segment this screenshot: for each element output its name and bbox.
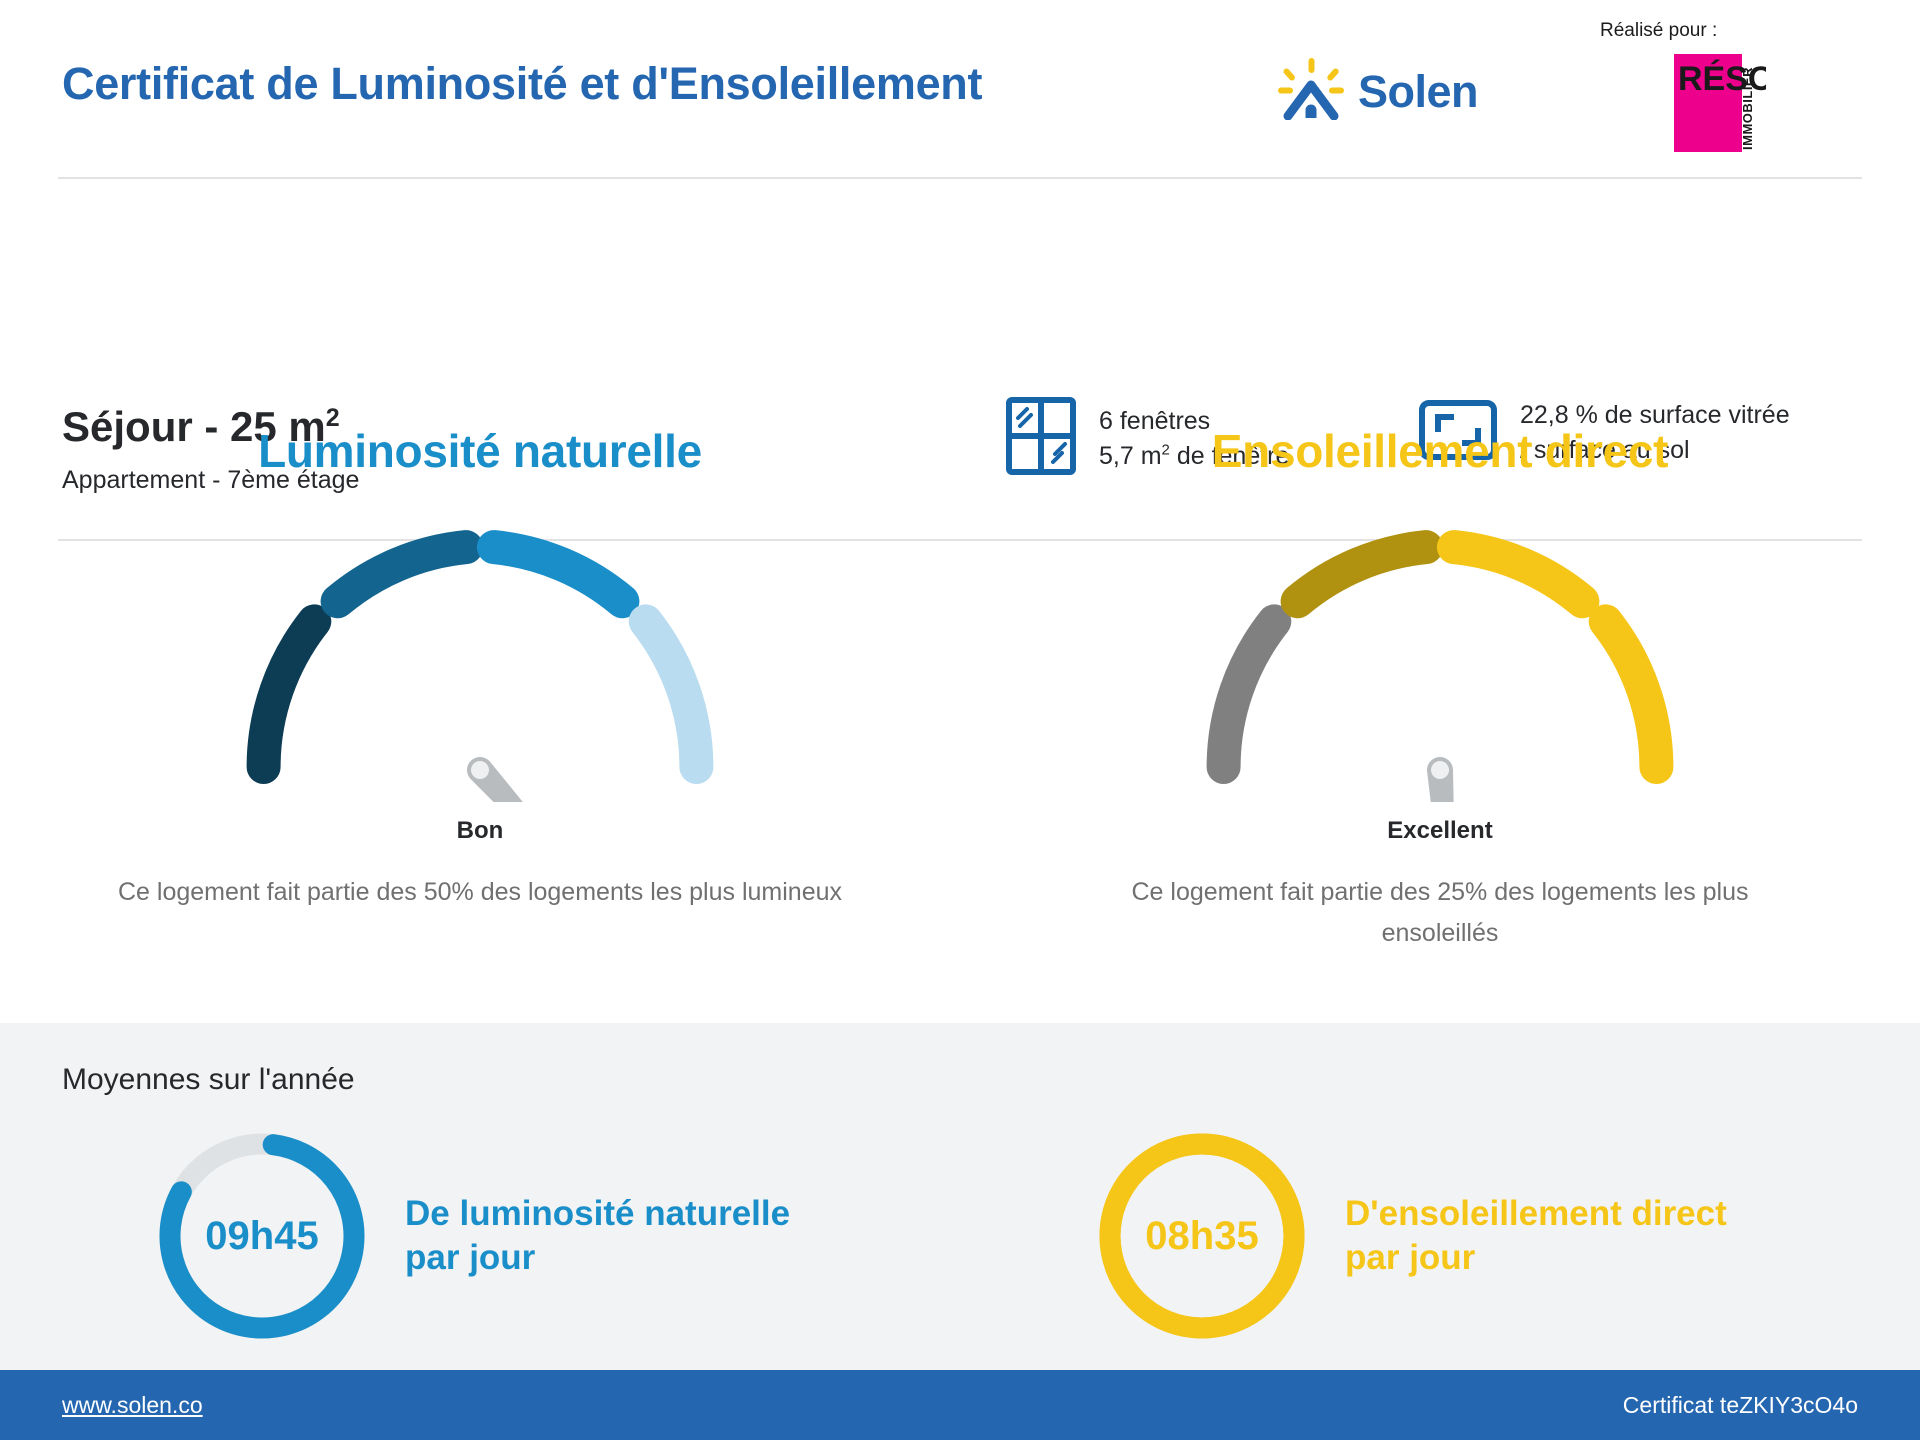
brand-logo: Solen [1278,58,1478,125]
page-footer: www.solen.co Certificat teZKIY3cO4o [0,1370,1920,1440]
brand-name: Solen [1358,66,1478,118]
gauge-lum-needle [462,752,605,802]
gauge-lum-segment-4 [646,621,697,767]
averages-section: Moyennes sur l'année 09h45 De luminosité… [0,1023,1920,1370]
svg-text:IMMOBILIER: IMMOBILIER [1740,67,1755,150]
certificate-page: Certificat de Luminosité et d'Ensoleille… [0,0,1920,1440]
gauge-sun-segment-2 [1298,547,1427,601]
gauge-sun-needle [1426,756,1465,802]
gauge-sun-segment-3 [1454,547,1583,601]
certificate-id: Certificat teZKIY3cO4o [1623,1392,1858,1419]
averages-title: Moyennes sur l'année [62,1063,355,1097]
donut-luminosity-value: 09h45 [155,1129,369,1343]
gauge-sunlight-description: Ce logement fait partie des 25% des loge… [1070,872,1810,955]
panel-luminosity-title: Luminosité naturelle [0,424,960,478]
gauge-lum-segment-2 [338,547,467,601]
property-summary: Séjour - 25 m2 Appartement - 7ème étage [0,178,1920,362]
sun-house-icon [1278,58,1344,125]
gauge-lum-segment-1 [264,621,315,767]
panel-luminosity: Luminosité naturelle Bon Ce loge [0,362,960,1023]
gauge-luminosity-description: Ce logement fait partie des 50% des loge… [110,872,850,913]
gauge-sun-segment-1 [1224,621,1275,767]
donut-sunlight: 08h35 [1095,1129,1309,1343]
average-sunlight-caption: D'ensoleillement direct par jour [1345,1192,1727,1280]
client-logo: RÉSO IMMOBILIER IMMOBILIER [1674,50,1766,155]
donut-luminosity: 09h45 [155,1129,369,1343]
page-title: Certificat de Luminosité et d'Ensoleille… [62,58,982,110]
donut-sunlight-value: 08h35 [1095,1129,1309,1343]
gauge-sunlight [1190,512,1690,807]
average-sunlight: 08h35 D'ensoleillement direct par jour [1095,1129,1727,1343]
average-luminosity-caption: De luminosité naturelle par jour [405,1192,790,1280]
gauge-panels: Luminosité naturelle Bon Ce loge [0,362,1920,1023]
panel-sunlight: Ensoleillement direct Excellent [960,362,1920,1023]
gauge-luminosity-rating: Bon [0,817,960,845]
page-header: Certificat de Luminosité et d'Ensoleille… [0,0,1920,178]
gauge-luminosity [230,512,730,807]
gauge-sunlight-rating: Excellent [960,817,1920,845]
realise-pour-label: Réalisé pour : [1600,20,1717,42]
average-luminosity: 09h45 De luminosité naturelle par jour [155,1129,790,1343]
gauge-sun-segment-4 [1606,621,1657,767]
gauge-lum-segment-3 [494,547,623,601]
panel-sunlight-title: Ensoleillement direct [960,424,1920,478]
website-link[interactable]: www.solen.co [62,1392,203,1419]
